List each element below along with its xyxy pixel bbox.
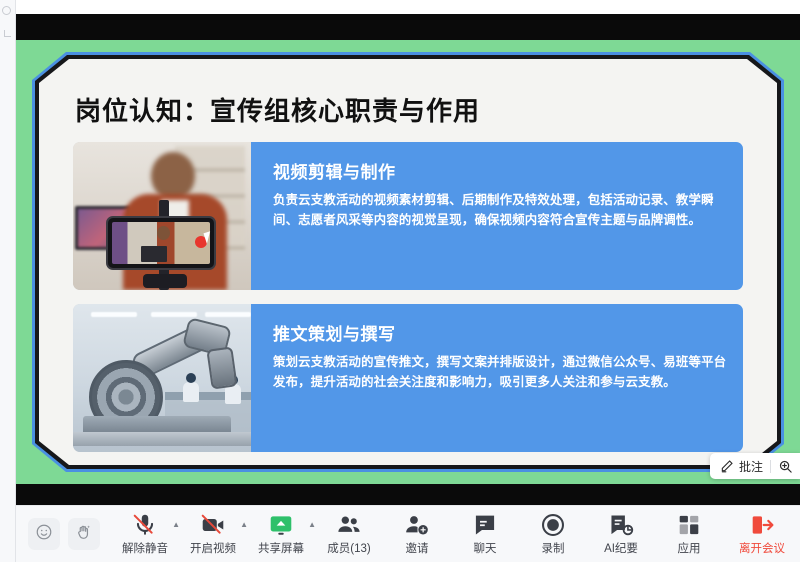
- toolbar-label: 解除静音: [122, 540, 168, 556]
- card-description: 负责云支教活动的视频素材剪辑、后期制作及特效处理，包括活动记录、教学瞬间、志愿者…: [273, 190, 727, 231]
- content-card: 视频剪辑与制作 负责云支教活动的视频素材剪辑、后期制作及特效处理，包括活动记录、…: [73, 142, 743, 290]
- slide-content: 岗位认知：宣传组核心职责与作用: [39, 59, 777, 465]
- toolbar-button-unmute[interactable]: 解除静音 ▲: [112, 509, 178, 558]
- content-card: 推文策划与撰写 策划云支教活动的宣传推文，撰写文案并排版设计，通过微信公众号、易…: [73, 304, 743, 452]
- magnifier-plus-icon: [778, 459, 793, 474]
- screen-share-icon: [268, 512, 294, 538]
- shared-screen-stage[interactable]: 岗位认知：宣传组核心职责与作用: [16, 0, 800, 505]
- meeting-toolbar: 解除静音 ▲ 开启视频 ▲: [16, 505, 800, 562]
- host-window-strip: [0, 0, 16, 562]
- toolbar-button-participants[interactable]: 成员(13): [316, 509, 382, 558]
- toolbar-label: 应用: [678, 540, 701, 556]
- letterbox-top: [16, 14, 800, 40]
- chat-bubble-icon: [472, 512, 498, 538]
- card-text: 推文策划与撰写 策划云支教活动的宣传推文，撰写文案并排版设计，通过微信公众号、易…: [251, 304, 743, 452]
- toolbar-label: 录制: [542, 540, 565, 556]
- apps-grid-icon: [676, 512, 702, 538]
- exit-door-icon: [749, 512, 775, 538]
- annotate-button[interactable]: 批注: [720, 458, 763, 475]
- photo-robot-arm: [73, 304, 251, 452]
- host-strip-arrow-icon: [4, 30, 11, 37]
- invite-person-icon: [404, 512, 430, 538]
- raised-hand-icon: [75, 523, 93, 546]
- page-title: 岗位认知：宣传组核心职责与作用: [75, 91, 751, 128]
- ai-summary-icon: [608, 512, 634, 538]
- toolbar-label: 开启视频: [190, 540, 236, 556]
- chevron-up-icon[interactable]: ▲: [240, 521, 248, 529]
- toolbar-button-ai-summary[interactable]: AI纪要: [588, 509, 654, 558]
- toolbar-button-share-screen[interactable]: 共享屏幕 ▲: [248, 509, 314, 558]
- phone-on-tripod-icon: [106, 216, 216, 270]
- toolbar-label: 共享屏幕: [258, 540, 304, 556]
- host-strip-dot-icon: [2, 6, 11, 15]
- presentation-slide: 岗位认知：宣传组核心职责与作用: [16, 40, 800, 484]
- toolbar-label: AI纪要: [604, 540, 638, 556]
- record-circle-icon: [540, 512, 566, 538]
- photo-video-recording: [73, 142, 251, 290]
- emoji-reaction-button[interactable]: [28, 518, 60, 550]
- toolbar-label: 邀请: [406, 540, 429, 556]
- pen-icon: [720, 459, 734, 473]
- toolbar-button-chat[interactable]: 聊天: [452, 509, 518, 558]
- card-title: 推文策划与撰写: [273, 320, 727, 345]
- microphone-muted-icon: [132, 512, 158, 538]
- leave-meeting-label: 离开会议: [739, 540, 785, 556]
- smiley-icon: [35, 523, 53, 546]
- card-title: 视频剪辑与制作: [273, 158, 727, 183]
- annotate-label: 批注: [739, 458, 763, 475]
- toolbar-left-group: [16, 518, 100, 550]
- toolbar-button-invite[interactable]: 邀请: [384, 509, 450, 558]
- leave-meeting-button[interactable]: 离开会议: [734, 512, 800, 556]
- toolbar-label: 成员(13): [327, 540, 370, 556]
- raise-hand-button[interactable]: [68, 518, 100, 550]
- chevron-up-icon[interactable]: ▲: [172, 521, 180, 529]
- card-text: 视频剪辑与制作 负责云支教活动的视频素材剪辑、后期制作及特效处理，包括活动记录、…: [251, 142, 743, 290]
- toolbar-main-group: 解除静音 ▲ 开启视频 ▲: [100, 509, 734, 560]
- participants-icon: [336, 512, 362, 538]
- toolbar-label: 聊天: [474, 540, 497, 556]
- card-description: 策划云支教活动的宣传推文，撰写文案并排版设计，通过微信公众号、易班等平台发布，提…: [273, 352, 727, 393]
- toolbar-button-apps[interactable]: 应用: [656, 509, 722, 558]
- toolbar-button-record[interactable]: 录制: [520, 509, 586, 558]
- meeting-window: 岗位认知：宣传组核心职责与作用: [0, 0, 800, 562]
- zoom-in-button[interactable]: [778, 459, 793, 474]
- chevron-up-icon[interactable]: ▲: [308, 521, 316, 529]
- camera-off-icon: [200, 512, 226, 538]
- letterbox-bottom: [16, 484, 800, 505]
- annotation-toolbar[interactable]: 批注: [710, 453, 800, 479]
- toolbar-divider: [770, 460, 771, 473]
- toolbar-button-start-video[interactable]: 开启视频 ▲: [180, 509, 246, 558]
